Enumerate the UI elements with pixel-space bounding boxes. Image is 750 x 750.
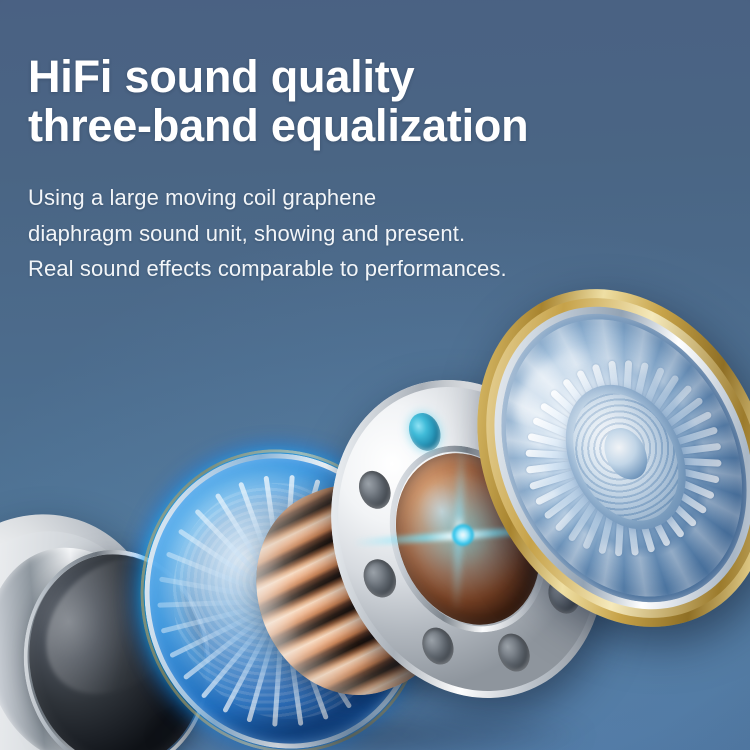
product-feature-poster: HiFi sound quality three-band equalizati… xyxy=(0,0,750,750)
page-subtitle: Using a large moving coil graphene diaph… xyxy=(28,180,734,287)
body-line-2: diaphragm sound unit, showing and presen… xyxy=(28,216,734,252)
marketing-copy-block: HiFi sound quality three-band equalizati… xyxy=(28,22,734,309)
page-title: HiFi sound quality three-band equalizati… xyxy=(28,52,734,150)
body-line-3: Real sound effects comparable to perform… xyxy=(28,251,734,287)
headline-line-1: HiFi sound quality xyxy=(28,51,414,102)
body-line-1: Using a large moving coil graphene xyxy=(28,180,734,216)
headline-line-2: three-band equalization xyxy=(28,101,734,150)
cyan-lens-flare-core xyxy=(452,524,474,546)
